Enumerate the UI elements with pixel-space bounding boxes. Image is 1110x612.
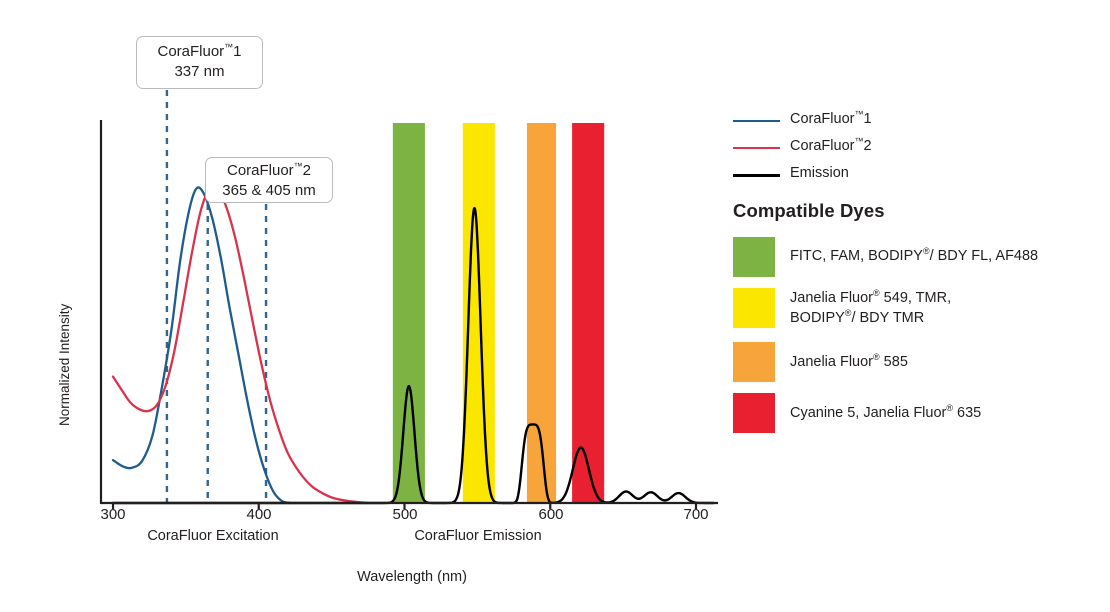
dye-label-cyanine5-line1: Cyanine 5, Janelia Fluor® 635	[790, 405, 981, 421]
xtick-label-300: 300	[100, 506, 125, 523]
callout-2-line1: CoraFluor™2	[227, 162, 311, 179]
dye-label-janelia585-line1: Janelia Fluor® 585	[790, 354, 908, 370]
callout-1-line1: CoraFluor™1	[157, 43, 241, 60]
legend-item-corafluor1: CoraFluor™1	[733, 108, 1103, 135]
legend-label-emission: Emission	[790, 165, 849, 181]
xaxis-sublabel-excitation: CoraFluor Excitation	[147, 528, 278, 544]
legend-heading-compatible-dyes: Compatible Dyes	[733, 200, 885, 222]
legend-line-series: CoraFluor™1 CoraFluor™2 Emission	[733, 108, 1103, 189]
dye-swatch-janelia585	[733, 342, 775, 382]
dye-label-fitc: FITC, FAM, BODIPY®/ BDY FL, AF488	[790, 246, 1038, 266]
emission-band-3	[572, 123, 604, 503]
dye-label-janelia549-line2: BODIPY®/ BDY TMR	[790, 310, 924, 326]
dye-swatch-fitc	[733, 237, 775, 277]
xaxis-title: Wavelength (nm)	[357, 569, 467, 585]
legend-item-emission: Emission	[733, 162, 1103, 189]
dye-row-fitc: FITC, FAM, BODIPY®/ BDY FL, AF488	[733, 237, 1103, 279]
dye-label-fitc-line1: FITC, FAM, BODIPY®/ BDY FL, AF488	[790, 248, 1038, 264]
legend-item-corafluor2: CoraFluor™2	[733, 135, 1103, 162]
dye-row-cyanine5: Cyanine 5, Janelia Fluor® 635	[733, 393, 1103, 435]
yaxis-title: Normalized Intensity	[57, 304, 72, 426]
curve-corafluor1	[113, 187, 291, 503]
callout-corafluor2: CoraFluor™2 365 & 405 nm	[205, 157, 333, 203]
legend-swatch-corafluor1	[733, 120, 780, 122]
spectral-chart-figure: 300 400 500 600 700 CoraFluor Excitation…	[0, 0, 1110, 612]
excitation-marker-group	[167, 90, 266, 503]
callout-1-line2: 337 nm	[137, 62, 262, 82]
dye-label-janelia549-line1: Janelia Fluor® 549, TMR,	[790, 290, 951, 306]
legend-swatch-emission	[733, 174, 780, 177]
dye-label-janelia549: Janelia Fluor® 549, TMR, BODIPY®/ BDY TM…	[790, 288, 951, 328]
callout-corafluor1: CoraFluor™1 337 nm	[136, 36, 263, 89]
dye-label-janelia585: Janelia Fluor® 585	[790, 352, 908, 372]
curve-corafluor2	[113, 187, 368, 503]
legend-label-corafluor1: CoraFluor™1	[790, 111, 872, 127]
xtick-label-500: 500	[392, 506, 417, 523]
xtick-label-600: 600	[538, 506, 563, 523]
emission-band-group	[393, 123, 604, 503]
callout-2-line2: 365 & 405 nm	[206, 181, 332, 201]
dye-swatch-janelia549	[733, 288, 775, 328]
xtick-label-700: 700	[683, 506, 708, 523]
legend-label-corafluor2: CoraFluor™2	[790, 138, 872, 154]
dye-row-janelia549: Janelia Fluor® 549, TMR, BODIPY®/ BDY TM…	[733, 288, 1103, 330]
xaxis-sublabel-emission: CoraFluor Emission	[414, 528, 541, 544]
dye-label-cyanine5: Cyanine 5, Janelia Fluor® 635	[790, 403, 981, 423]
xtick-label-400: 400	[246, 506, 271, 523]
dye-row-janelia585: Janelia Fluor® 585	[733, 342, 1103, 384]
emission-band-0	[393, 123, 425, 503]
legend-swatch-corafluor2	[733, 147, 780, 149]
dye-swatch-cyanine5	[733, 393, 775, 433]
